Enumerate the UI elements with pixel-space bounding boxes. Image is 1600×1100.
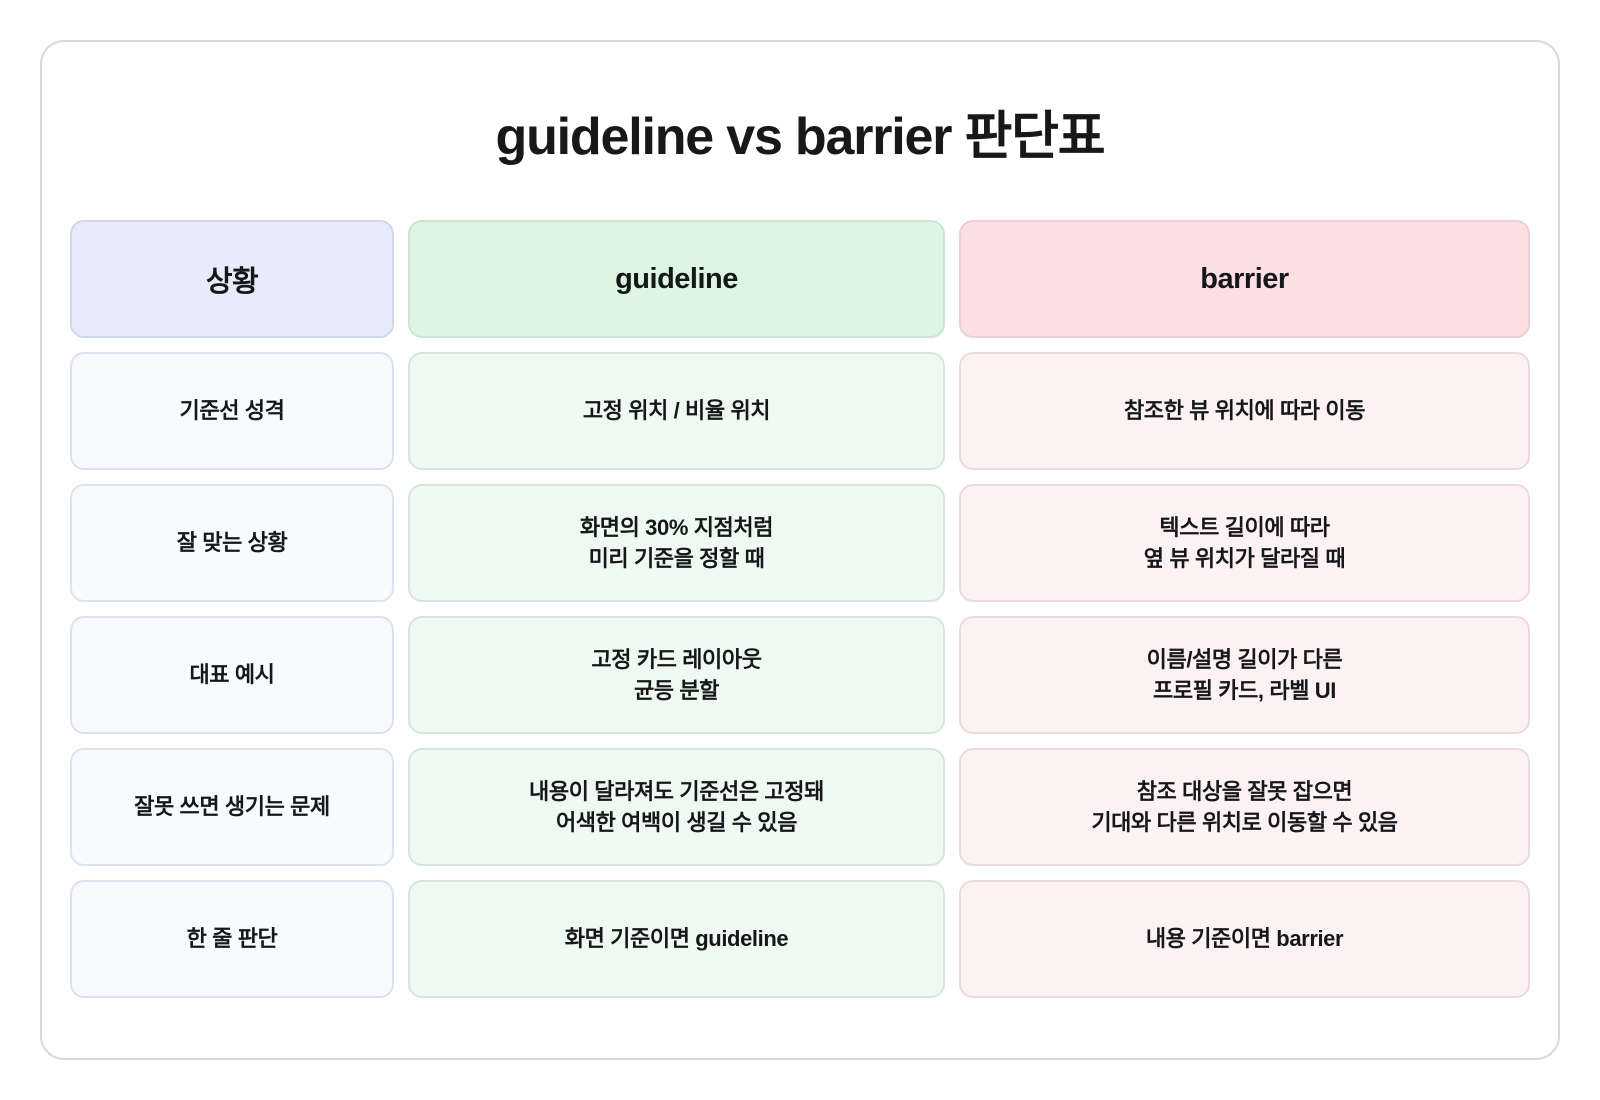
cell-guideline: 고정 위치 / 비율 위치	[408, 352, 945, 470]
cell-text-guideline: 내용이 달라져도 기준선은 고정돼 어색한 여백이 생길 수 있음	[529, 776, 824, 838]
cell-guideline: 화면의 30% 지점처럼 미리 기준을 정할 때	[408, 484, 945, 602]
cell-guideline: 화면 기준이면 guideline	[408, 880, 945, 998]
cell-text-barrier: 참조 대상을 잘못 잡으면 기대와 다른 위치로 이동할 수 있음	[1091, 776, 1397, 838]
cell-text-barrier: 텍스트 길이에 따라 옆 뷰 위치가 달라질 때	[1144, 512, 1345, 574]
page-title: guideline vs barrier 판단표	[42, 94, 1558, 169]
table-row: 잘 맞는 상황 화면의 30% 지점처럼 미리 기준을 정할 때 텍스트 길이에…	[70, 484, 1530, 602]
cell-text-guideline: 고정 위치 / 비율 위치	[583, 395, 770, 426]
comparison-table-card: guideline vs barrier 판단표 상황 guideline ba…	[40, 40, 1560, 1060]
cell-situation: 대표 예시	[70, 616, 394, 734]
table-row: 한 줄 판단 화면 기준이면 guideline 내용 기준이면 barrier	[70, 880, 1530, 998]
header-label-situation: 상황	[206, 258, 258, 300]
cell-text-barrier: 내용 기준이면 barrier	[1146, 923, 1343, 954]
cell-text-barrier: 참조한 뷰 위치에 따라 이동	[1124, 395, 1365, 426]
header-label-guideline: guideline	[615, 263, 738, 296]
cell-barrier: 참조한 뷰 위치에 따라 이동	[959, 352, 1530, 470]
header-cell-guideline: guideline	[408, 220, 945, 338]
cell-text-guideline: 화면 기준이면 guideline	[565, 923, 788, 954]
table-row: 대표 예시 고정 카드 레이아웃 균등 분할 이름/설명 길이가 다른 프로필 …	[70, 616, 1530, 734]
cell-barrier: 참조 대상을 잘못 잡으면 기대와 다른 위치로 이동할 수 있음	[959, 748, 1530, 866]
header-cell-barrier: barrier	[959, 220, 1530, 338]
page-root: guideline vs barrier 판단표 상황 guideline ba…	[0, 0, 1600, 1100]
header-cell-situation: 상황	[70, 220, 394, 338]
cell-text-situation: 잘 맞는 상황	[177, 527, 288, 558]
table-row: 기준선 성격 고정 위치 / 비율 위치 참조한 뷰 위치에 따라 이동	[70, 352, 1530, 470]
cell-text-situation: 한 줄 판단	[187, 923, 278, 954]
cell-situation: 기준선 성격	[70, 352, 394, 470]
table-header-row: 상황 guideline barrier	[70, 220, 1530, 338]
cell-text-situation: 대표 예시	[189, 659, 274, 690]
cell-text-guideline: 화면의 30% 지점처럼 미리 기준을 정할 때	[580, 512, 773, 574]
cell-text-situation: 기준선 성격	[180, 395, 285, 426]
cell-guideline: 내용이 달라져도 기준선은 고정돼 어색한 여백이 생길 수 있음	[408, 748, 945, 866]
cell-barrier: 내용 기준이면 barrier	[959, 880, 1530, 998]
cell-situation: 잘못 쓰면 생기는 문제	[70, 748, 394, 866]
cell-situation: 한 줄 판단	[70, 880, 394, 998]
comparison-table: 상황 guideline barrier 기준선 성격 고정 위치 / 비율 위…	[70, 220, 1530, 998]
cell-text-barrier: 이름/설명 길이가 다른 프로필 카드, 라벨 UI	[1147, 644, 1343, 706]
header-label-barrier: barrier	[1200, 263, 1288, 296]
cell-text-situation: 잘못 쓰면 생기는 문제	[134, 791, 330, 822]
cell-guideline: 고정 카드 레이아웃 균등 분할	[408, 616, 945, 734]
cell-text-guideline: 고정 카드 레이아웃 균등 분할	[591, 644, 761, 706]
cell-barrier: 텍스트 길이에 따라 옆 뷰 위치가 달라질 때	[959, 484, 1530, 602]
cell-situation: 잘 맞는 상황	[70, 484, 394, 602]
table-row: 잘못 쓰면 생기는 문제 내용이 달라져도 기준선은 고정돼 어색한 여백이 생…	[70, 748, 1530, 866]
cell-barrier: 이름/설명 길이가 다른 프로필 카드, 라벨 UI	[959, 616, 1530, 734]
